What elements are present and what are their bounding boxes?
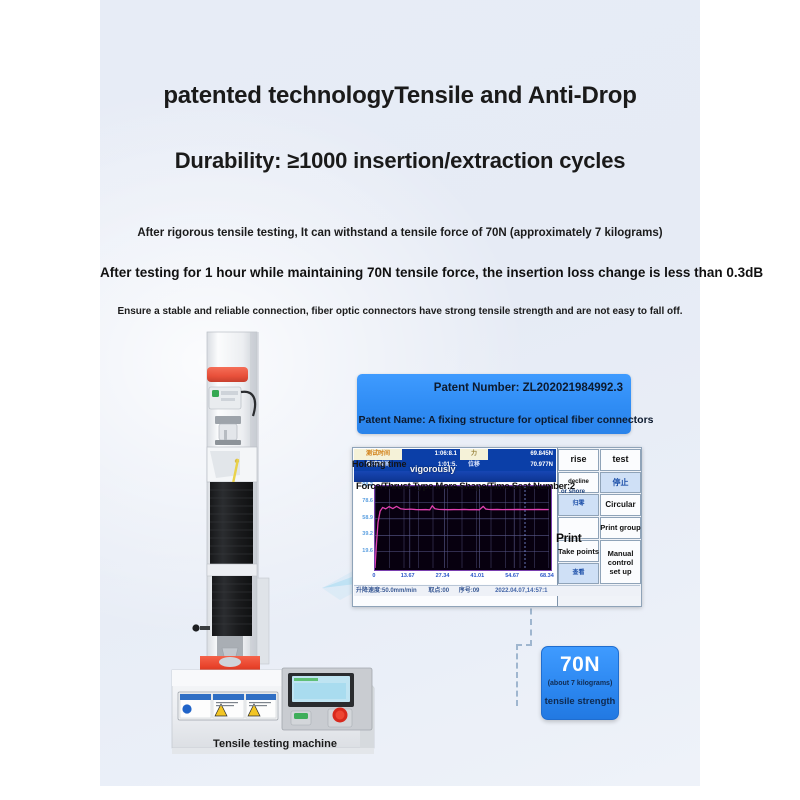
connector-dashed-line-horizontal <box>516 644 532 646</box>
body-line-2: After testing for 1 hour while maintaini… <box>100 265 720 280</box>
patent-number: Patent Number: ZL202021984992.3 <box>357 382 631 394</box>
tensile-strength-badge: 70N (about 7 kilograms) tensile strength <box>541 646 619 720</box>
chart-y-tick: 78.6 <box>362 498 373 504</box>
chart-x-tick: 41.01 <box>470 573 484 580</box>
view-button[interactable]: 查看 <box>558 563 599 584</box>
badge-note: (about 7 kilograms) <box>542 680 618 687</box>
chart-x-axis: 013.6727.3441.0154.6768.34 <box>370 573 556 583</box>
chart-y-tick: 39.2 <box>362 531 373 537</box>
status-unit-displacement: 位移 <box>460 460 488 471</box>
chart-x-tick: 54.67 <box>505 573 519 580</box>
force-time-chart: 98.278.658.939.219.6 013.6727.3441.0154.… <box>354 483 556 584</box>
zero-return-button[interactable]: 归零 <box>558 494 599 516</box>
monitor-status-bar: 升降速度:50.0mm/min 取点:00 序号:09 2022.04.07,1… <box>354 585 640 596</box>
machine-caption: Tensile testing machine <box>160 738 390 750</box>
overlay-print-label[interactable]: Print <box>556 531 581 545</box>
chart-x-tick: 68.34 <box>540 573 554 580</box>
status-serial: 序号:09 <box>459 586 480 596</box>
manual-control-setup-button[interactable]: Manual control set up <box>600 540 641 584</box>
page-root: patented technologyTensile and Anti-Drop… <box>0 0 800 800</box>
page-title: patented technologyTensile and Anti-Drop <box>100 82 700 110</box>
status-value-test-time: 1:06:8.1 <box>402 449 460 460</box>
rise-button[interactable]: rise <box>558 449 599 471</box>
chart-y-tick: 58.9 <box>362 515 373 521</box>
circular-button[interactable]: Circular <box>600 494 641 516</box>
connector-dashed-line-vertical <box>516 644 518 706</box>
badge-caption: tensile strength <box>542 696 618 707</box>
chart-x-tick: 13.67 <box>401 573 415 580</box>
chart-x-tick: 27.34 <box>436 573 450 580</box>
body-line-1: After rigorous tensile testing, It can w… <box>100 227 700 239</box>
status-value-force: 69.845N <box>488 449 556 460</box>
status-value-displacement: 70.977N <box>488 460 556 471</box>
stop-button[interactable]: 停止 <box>600 472 641 493</box>
status-speed: 升降速度:50.0mm/min <box>356 586 417 596</box>
monitor-button-pane: rise test decline 停止 归零 Circular Print g… <box>557 448 642 606</box>
badge-value: 70N <box>542 653 618 677</box>
tester-monitor-screen: 测试时间 1:06:8.1 力 69.845N 保持时间 1:01:5. 位移 … <box>352 447 642 607</box>
overlay-vigorously: vigorously <box>410 464 456 474</box>
overlay-holding-time: Holding time <box>352 459 407 469</box>
status-unit-force: 力 <box>460 449 488 460</box>
print-group-button[interactable]: Print group <box>600 517 641 539</box>
status-points: 取点:00 <box>428 586 449 596</box>
patent-name: Patent Name: A fixing structure for opti… <box>357 414 655 426</box>
chart-plot-area <box>374 485 552 571</box>
overlay-or-shore: or shore <box>561 489 585 495</box>
test-button[interactable]: test <box>600 449 641 471</box>
status-timestamp: 2022.04.07,14:57:1 <box>495 586 547 596</box>
chart-x-tick: 0 <box>372 573 375 580</box>
overlay-force-row: Force/Thrust Type More Shape/Time Seat N… <box>356 481 575 492</box>
body-line-3: Ensure a stable and reliable connection,… <box>100 306 700 317</box>
page-subtitle: Durability: ≥1000 insertion/extraction c… <box>100 148 700 174</box>
chart-y-tick: 19.6 <box>362 548 373 554</box>
chart-y-axis: 98.278.658.939.219.6 <box>354 483 374 571</box>
